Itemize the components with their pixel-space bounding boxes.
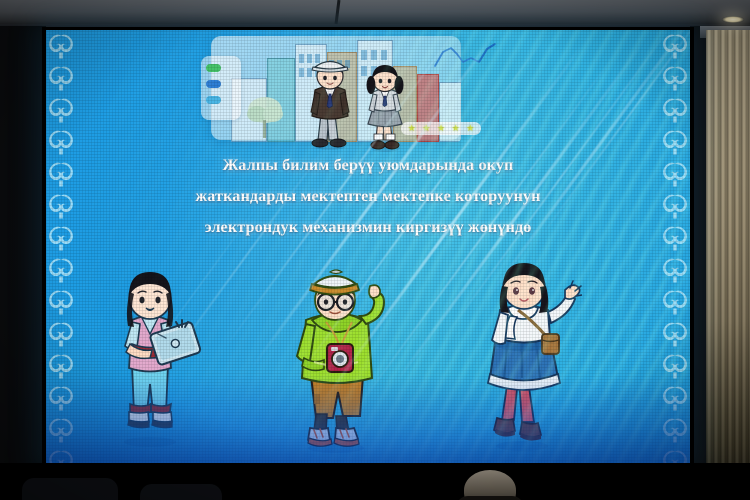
ceiling-light-icon	[722, 16, 744, 23]
conference-hall-scene: ★ ★ ★ ★ ★	[0, 0, 750, 500]
ceiling	[0, 0, 750, 26]
wall-left	[0, 26, 46, 500]
led-screen: ★ ★ ★ ★ ★	[46, 30, 690, 464]
audience-seat	[140, 484, 222, 500]
screen-bottom-falloff	[46, 374, 690, 464]
window-curtain	[706, 30, 750, 500]
audience-seat	[22, 478, 118, 500]
